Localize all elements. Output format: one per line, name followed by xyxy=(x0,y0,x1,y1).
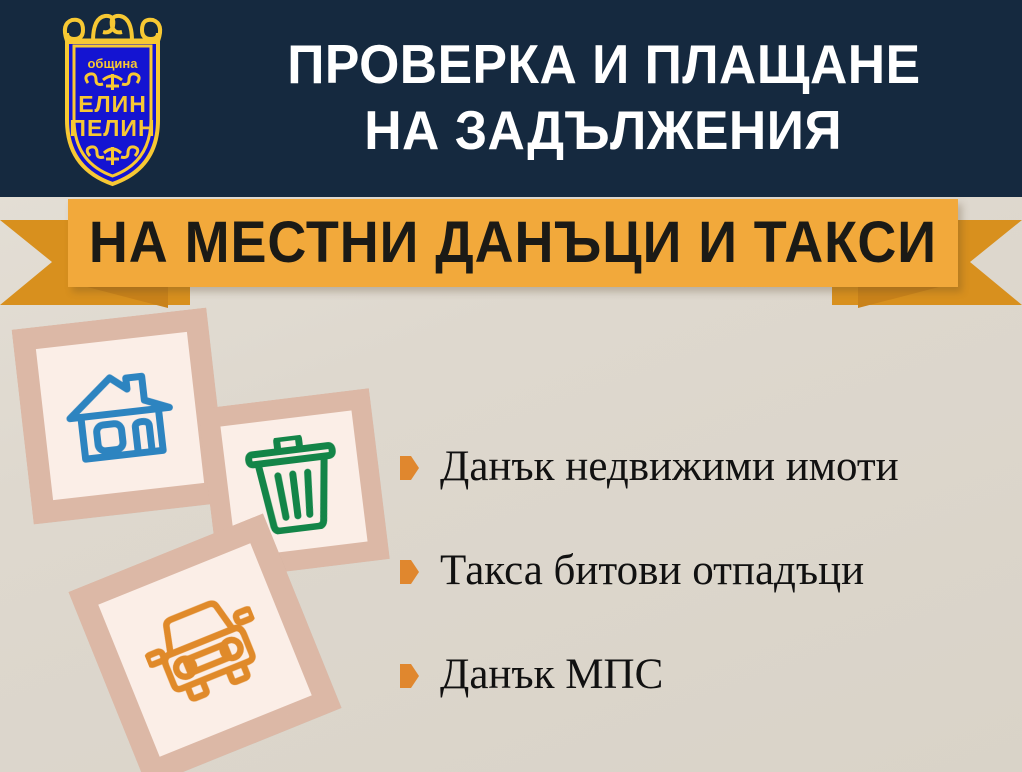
subtitle-ribbon: НА МЕСТНИ ДАНЪЦИ И ТАКСИ xyxy=(0,196,1022,308)
list-item[interactable]: Данък недвижими имоти xyxy=(400,415,1010,519)
tax-types-list: Данък недвижими имоти Такса битови отпад… xyxy=(400,415,1010,727)
list-item[interactable]: Данък МПС xyxy=(400,623,1010,727)
coat-of-arms-icon: община ЕЛИН ПЕЛИН xyxy=(45,8,180,191)
page-title-line-2: НА ЗАДЪЛЖЕНИЯ xyxy=(365,97,843,163)
svg-text:община: община xyxy=(87,56,138,71)
arrow-bullet-icon xyxy=(400,560,419,584)
list-item-label: Данък недвижими имоти xyxy=(440,443,899,491)
svg-text:ЕЛИН: ЕЛИН xyxy=(78,91,147,117)
arrow-bullet-icon xyxy=(400,456,419,480)
svg-text:ПЕЛИН: ПЕЛИН xyxy=(69,115,155,141)
stamp-card-property xyxy=(12,308,229,525)
ribbon-banner: НА МЕСТНИ ДАНЪЦИ И ТАКСИ xyxy=(68,199,958,287)
stamp-paper xyxy=(36,332,204,500)
header-bar: община ЕЛИН ПЕЛИН xyxy=(0,0,1022,197)
house-icon xyxy=(59,360,182,472)
arrow-bullet-icon xyxy=(400,664,419,688)
list-item[interactable]: Такса битови отпадъци xyxy=(400,519,1010,623)
page-title-line-1: ПРОВЕРКА И ПЛАЩАНЕ xyxy=(287,31,920,97)
list-item-label: Такса битови отпадъци xyxy=(440,547,864,595)
car-front-icon xyxy=(134,587,275,714)
list-item-label: Данък МПС xyxy=(440,651,663,699)
page-title: ПРОВЕРКА И ПЛАЩАНЕ НА ЗАДЪЛЖЕНИЯ xyxy=(185,0,1022,197)
ribbon-label: НА МЕСТНИ ДАНЪЦИ И ТАКСИ xyxy=(89,213,937,273)
poster-root: община ЕЛИН ПЕЛИН xyxy=(0,0,1022,772)
